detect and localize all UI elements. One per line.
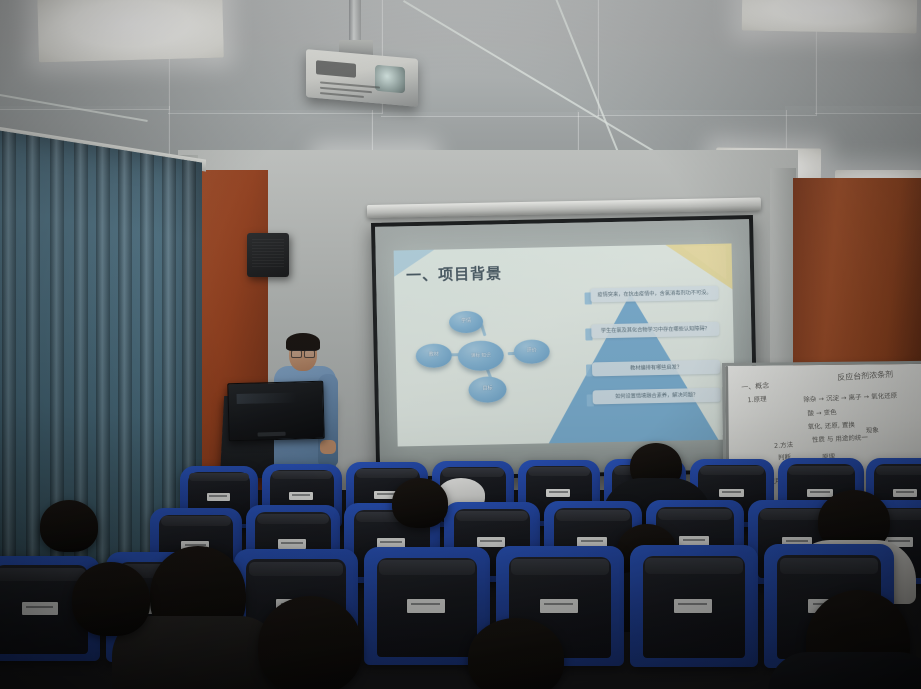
ceiling-light (742, 0, 918, 34)
lecture-hall-photo: 一、项目背景 学情 教材 课标 知识 目标 评价 疫情突来，在抗击疫情中，含氯消… (0, 0, 921, 689)
glasses-icon (291, 350, 315, 355)
audience-head (258, 596, 362, 689)
presentation-slide: 一、项目背景 学情 教材 课标 知识 目标 评价 疫情突来，在抗击疫情中，含氯消… (394, 243, 736, 446)
slide-question-3: 教材编排有哪些启发？ (592, 360, 720, 377)
projector-lens (375, 65, 405, 94)
whiteboard-line: 一、概念 (741, 381, 770, 393)
presenter-hand (320, 440, 336, 454)
ceiling-light (37, 0, 224, 62)
audience-head (72, 562, 150, 636)
audience-head (468, 618, 564, 689)
audience-shoulders (768, 652, 921, 689)
wall-speaker (247, 233, 289, 277)
slide-title: 一、项目背景 (406, 262, 502, 285)
whiteboard-line: 除杂 → 沉淀 → 离子 → 氧化还原 (803, 390, 897, 404)
slide-bubble-pingjia: 评价 (513, 339, 549, 364)
monitor-logo (258, 432, 286, 437)
speaker-grille (252, 239, 284, 268)
slide-bubble-center: 课标 知识 (457, 340, 504, 371)
monitor-screen-glow (237, 392, 297, 404)
presenter-hair (286, 333, 320, 351)
slide-bubble-mubiao: 目标 (468, 376, 507, 403)
whiteboard-line: 现象 (865, 424, 878, 435)
slide-question-1: 疫情突来，在抗击疫情中，含氯消毒剂功不可没。 (590, 286, 718, 303)
podium-monitor[interactable] (227, 381, 324, 441)
whiteboard-line: 氧化, 还原, 置换 (807, 419, 855, 431)
audience-head (392, 478, 448, 528)
projection-screen: 一、项目背景 学情 教材 课标 知识 目标 评价 疫情突来，在抗击疫情中，含氯消… (371, 215, 758, 481)
slide-accent-triangle-right-inner (682, 246, 727, 281)
slide-bubble-jiaocai: 教材 (416, 343, 452, 368)
seat[interactable] (630, 545, 758, 667)
slide-bubble-xueqing: 学情 (449, 311, 483, 334)
whiteboard-line: 酸 → 变色 (807, 406, 837, 417)
audience-head (40, 500, 98, 552)
whiteboard-line: 性质 与 用途的统一 (812, 432, 869, 445)
slide-question-4: 如何设置情境融合素养，解决问题？ (593, 388, 721, 405)
whiteboard-line: 2.方法 (774, 439, 794, 450)
slide-question-2: 学生在氯及其化合物学习中存在哪些认知障碍？ (591, 322, 719, 339)
whiteboard-heading: 反应台剂浓条剂 (837, 369, 894, 383)
whiteboard-line: 1.原理 (747, 393, 767, 404)
